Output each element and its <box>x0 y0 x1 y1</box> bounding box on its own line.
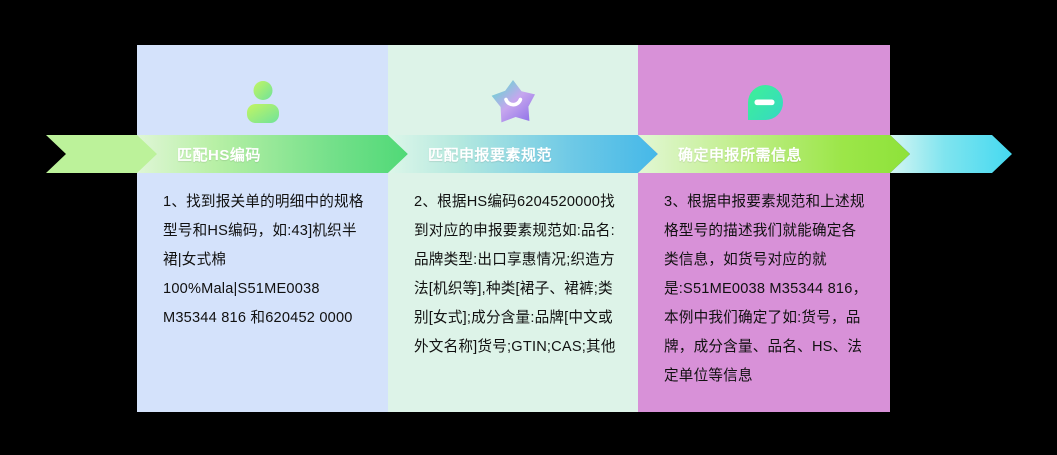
person-icon <box>137 69 388 135</box>
process-flow-diagram: 1、找到报关单的明细中的规格型号和HS编码，如:43]机织半裙|女式棉100%M… <box>0 0 1057 455</box>
step-banner-label-2: 匹配申报要素规范 <box>428 144 552 165</box>
minus-badge-icon <box>638 69 890 135</box>
step-banner-label-1: 匹配HS编码 <box>177 144 261 165</box>
star-smile-icon <box>388 69 638 135</box>
step-panel-1: 1、找到报关单的明细中的规格型号和HS编码，如:43]机织半裙|女式棉100%M… <box>137 45 388 412</box>
step-banner-3[interactable]: 确定申报所需信息 <box>638 135 910 173</box>
flow-start-arrow <box>46 135 158 173</box>
step-banner-2[interactable]: 匹配申报要素规范 <box>388 135 658 173</box>
step-body-2: 2、根据HS编码6204520000找到对应的申报要素规范如:品名:品牌类型:出… <box>414 188 616 362</box>
step-banner-label-3: 确定申报所需信息 <box>678 144 802 165</box>
step-panel-2: 2、根据HS编码6204520000找到对应的申报要素规范如:品名:品牌类型:出… <box>388 45 638 412</box>
step-body-3: 3、根据申报要素规范和上述规格型号的描述我们就能确定各类信息，如货号对应的就是:… <box>664 188 868 391</box>
step-body-1: 1、找到报关单的明细中的规格型号和HS编码，如:43]机织半裙|女式棉100%M… <box>163 188 366 333</box>
step-banner-1[interactable]: 匹配HS编码 <box>137 135 408 173</box>
step-panel-3: 3、根据申报要素规范和上述规格型号的描述我们就能确定各类信息，如货号对应的就是:… <box>638 45 890 412</box>
